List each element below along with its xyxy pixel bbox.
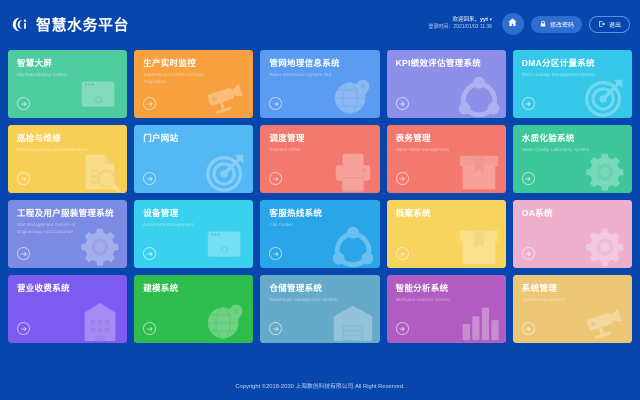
arrow-right-icon[interactable] <box>522 97 535 110</box>
app-tile[interactable]: OA系统 <box>513 200 632 268</box>
arrow-right-icon[interactable] <box>396 322 409 335</box>
app-tile[interactable]: 系统管理System Management <box>513 275 632 343</box>
browser-gear-icon <box>77 74 123 118</box>
arrow-right-icon[interactable] <box>522 172 535 185</box>
tile-title: 档案系统 <box>396 209 497 218</box>
arrow-right-icon[interactable] <box>143 247 156 260</box>
box-open-icon <box>456 149 502 193</box>
arrow-right-icon[interactable] <box>396 172 409 185</box>
tile-title: 智能分析系统 <box>396 284 497 293</box>
arrow-right-icon[interactable] <box>17 322 30 335</box>
tile-title: 水质化验系统 <box>522 134 623 143</box>
app-tile[interactable]: 营业收费系统 <box>8 275 127 343</box>
app-tile[interactable]: 巡检与维修Patrol Inspection and Maintenance <box>8 125 127 193</box>
arrow-right-icon[interactable] <box>269 172 282 185</box>
app-tile[interactable]: 智能分析系统Intelligent Analysis System <box>387 275 506 343</box>
tile-title: 系统管理 <box>522 284 623 293</box>
tile-title: 营业收费系统 <box>17 284 118 293</box>
tile-title: 仓储管理系统 <box>269 284 370 293</box>
copyright-text: Copyright ©2018-2030 上海数创科技有限公司 All Righ… <box>235 381 404 390</box>
login-time: 登录时间：2021/01/03 11:38 <box>428 24 492 31</box>
tile-title: 工程及用户服装管理系统 <box>17 209 118 218</box>
logout-button[interactable]: 退出 <box>589 16 630 33</box>
app-tile-grid: 智慧大屏Big Data Display System生产实时监控Supervi… <box>8 50 632 343</box>
arrow-right-icon[interactable] <box>17 247 30 260</box>
app-root: 智慧水务平台 欢迎回来，yyt ▾ 登录时间：2021/01/03 11:38 <box>0 0 640 400</box>
arrow-right-icon[interactable] <box>269 97 282 110</box>
building-icon <box>77 299 123 343</box>
doc-search-icon <box>77 149 123 193</box>
change-password-label: 修改密码 <box>550 20 574 29</box>
arrow-right-icon[interactable] <box>269 247 282 260</box>
header-actions: 欢迎回来，yyt ▾ 登录时间：2021/01/03 11:38 修改 <box>428 13 630 35</box>
tile-title: 巡检与维修 <box>17 134 118 143</box>
browser-gear-icon <box>203 224 249 268</box>
app-tile[interactable]: 客服热线系统Call Center <box>260 200 379 268</box>
tile-title: DMA分区计量系统 <box>522 59 623 68</box>
tile-title: 设备管理 <box>143 209 244 218</box>
app-tile[interactable]: 仓储管理系统Warehouse Management System <box>260 275 379 343</box>
gear-icon <box>582 149 628 193</box>
gear-icon <box>582 224 628 268</box>
app-tile[interactable]: 设备管理Equipment Management <box>134 200 253 268</box>
tile-title: 表务管理 <box>396 134 497 143</box>
tile-subtitle: Equipment Management <box>143 222 222 228</box>
arrow-right-icon[interactable] <box>17 97 30 110</box>
target-arrow-icon <box>582 74 628 118</box>
arrow-right-icon[interactable] <box>17 172 30 185</box>
brand-title: 智慧水务平台 <box>36 14 129 35</box>
tile-title: OA系统 <box>522 209 623 218</box>
tile-subtitle: Intelligent Analysis System <box>396 297 475 303</box>
tile-subtitle: BIM Management System of Engineering And… <box>17 222 96 234</box>
tile-subtitle: DMA Leakage Management System <box>522 72 601 78</box>
tile-title: 智慧大屏 <box>17 59 118 68</box>
chevron-down-icon[interactable]: ▾ <box>489 17 492 23</box>
tile-title: 客服热线系统 <box>269 209 370 218</box>
tile-subtitle: Supervisory Control And Data Acquisition <box>143 72 222 84</box>
app-tile[interactable]: 门户网站 <box>134 125 253 193</box>
app-tile[interactable]: 工程及用户服装管理系统BIM Management System of Engi… <box>8 200 127 268</box>
cctv-camera-icon <box>582 299 628 343</box>
share-nodes-icon <box>330 224 376 268</box>
tile-title: KPI绩效评估管理系统 <box>396 59 497 68</box>
bar-chart-icon <box>456 299 502 343</box>
tile-subtitle: Dispatch Office <box>269 147 348 153</box>
tile-title: 生产实时监控 <box>143 59 244 68</box>
brand: 智慧水务平台 <box>12 14 129 35</box>
tile-subtitle: Call Center <box>269 222 348 228</box>
app-tile[interactable]: 管网地理信息系统Water Distribution System GIS <box>260 50 379 118</box>
share-nodes-icon <box>456 74 502 118</box>
app-tile[interactable]: 表务管理Water Meter Management <box>387 125 506 193</box>
tile-subtitle: Big Data Display System <box>17 72 96 78</box>
arrow-right-icon[interactable] <box>522 247 535 260</box>
globe-pin-icon <box>203 299 249 343</box>
username: yyt <box>480 17 488 23</box>
home-icon <box>507 15 518 33</box>
app-tile[interactable]: 智慧大屏Big Data Display System <box>8 50 127 118</box>
printer-icon <box>330 149 376 193</box>
arrow-right-icon[interactable] <box>522 322 535 335</box>
tile-title: 建模系统 <box>143 284 244 293</box>
tile-subtitle: System Management <box>522 297 601 303</box>
arrow-right-icon[interactable] <box>143 97 156 110</box>
tile-subtitle: Water Meter Management <box>396 147 475 153</box>
tile-title: 门户网站 <box>143 134 244 143</box>
target-arrow-icon <box>203 149 249 193</box>
lock-icon <box>539 15 547 33</box>
welcome-prefix: 欢迎回来， <box>452 17 480 23</box>
logout-icon <box>598 15 606 33</box>
arrow-right-icon[interactable] <box>143 172 156 185</box>
change-password-button[interactable]: 修改密码 <box>531 16 582 33</box>
app-tile[interactable]: 水质化验系统Water Quality Laboratory System <box>513 125 632 193</box>
logout-label: 退出 <box>609 20 621 29</box>
app-tile[interactable]: 生产实时监控Supervisory Control And Data Acqui… <box>134 50 253 118</box>
app-footer: Copyright ©2018-2030 上海数创科技有限公司 All Righ… <box>0 370 640 400</box>
tile-title: 管网地理信息系统 <box>269 59 370 68</box>
arrow-right-icon[interactable] <box>396 247 409 260</box>
user-welcome[interactable]: 欢迎回来，yyt ▾ 登录时间：2021/01/03 11:38 <box>428 17 492 31</box>
signal-wave-i-logo-icon <box>12 15 31 34</box>
box-open-icon <box>456 224 502 268</box>
arrow-right-icon[interactable] <box>396 97 409 110</box>
arrow-right-icon[interactable] <box>269 322 282 335</box>
tile-subtitle: Water Quality Laboratory System <box>522 147 601 153</box>
warehouse-icon <box>330 299 376 343</box>
app-header: 智慧水务平台 欢迎回来，yyt ▾ 登录时间：2021/01/03 11:38 <box>0 0 640 48</box>
app-tile[interactable]: 建模系统 <box>134 275 253 343</box>
tile-subtitle: Patrol Inspection and Maintenance <box>17 147 96 153</box>
app-tile[interactable]: DMA分区计量系统DMA Leakage Management System <box>513 50 632 118</box>
tile-subtitle: Warehouse Management System <box>269 297 348 303</box>
arrow-right-icon[interactable] <box>143 322 156 335</box>
tile-title: 调度管理 <box>269 134 370 143</box>
app-tile[interactable]: 调度管理Dispatch Office <box>260 125 379 193</box>
home-button[interactable] <box>502 13 524 35</box>
tile-subtitle: Water Distribution System GIS <box>269 72 348 78</box>
app-tile[interactable]: KPI绩效评估管理系统 <box>387 50 506 118</box>
app-tile[interactable]: 档案系统 <box>387 200 506 268</box>
globe-pin-icon <box>330 74 376 118</box>
